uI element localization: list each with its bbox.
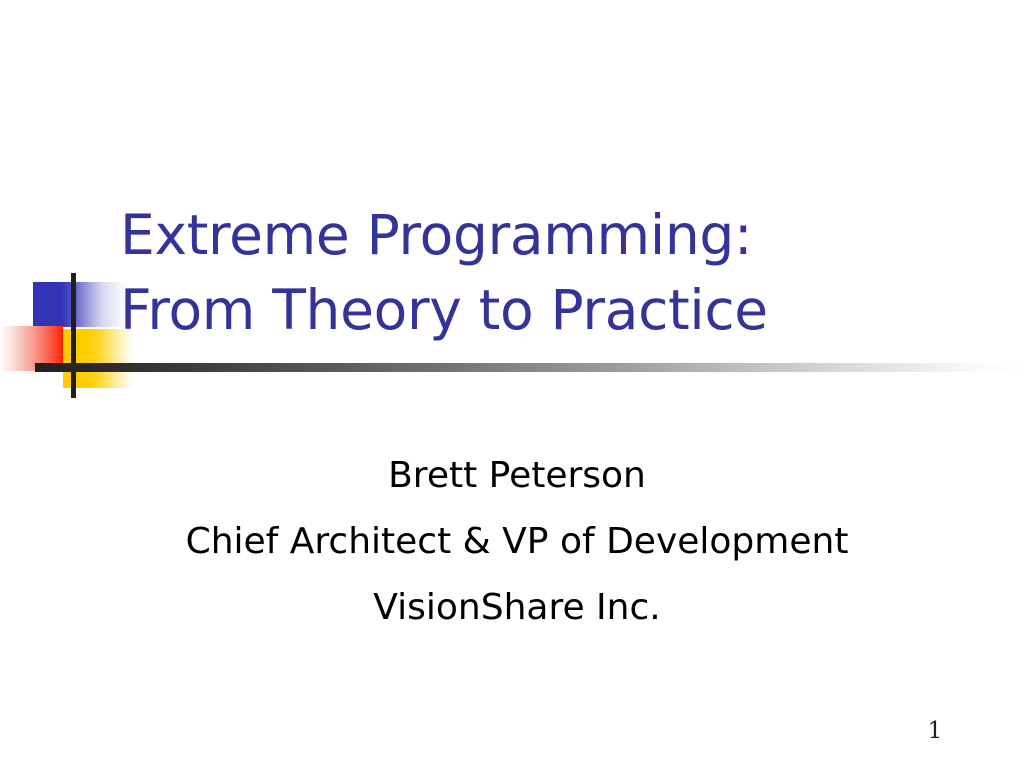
- slide-title: Extreme Programming: From Theory to Prac…: [120, 198, 980, 348]
- slide-title-line-1: Extreme Programming:: [120, 198, 980, 273]
- horizontal-rule-decoration: [35, 363, 1024, 372]
- slide-canvas: Extreme Programming: From Theory to Prac…: [0, 0, 1024, 768]
- presenter-name: Brett Peterson: [112, 443, 922, 509]
- slide-subtitle: Brett Peterson Chief Architect & VP of D…: [112, 443, 922, 641]
- slide-title-line-2: From Theory to Practice: [120, 273, 980, 348]
- presenter-organization: VisionShare Inc.: [112, 575, 922, 641]
- slide-number: 1: [905, 718, 965, 744]
- vertical-rule-decoration: [71, 273, 76, 398]
- blue-square-decoration: [33, 282, 126, 327]
- presenter-title: Chief Architect & VP of Development: [112, 509, 922, 575]
